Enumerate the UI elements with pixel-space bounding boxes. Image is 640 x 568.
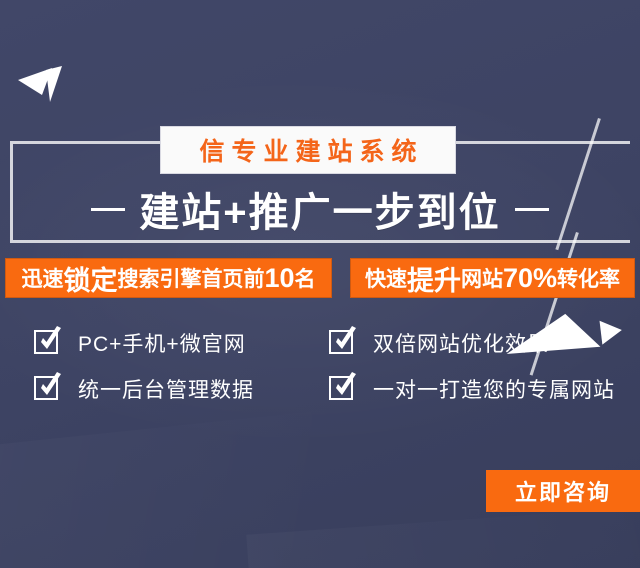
feature-item: 双倍网站优化效果 <box>329 328 634 358</box>
feature-item: 一对一打造您的专属网站 <box>329 374 634 404</box>
checkbox-checked-icon <box>329 376 355 402</box>
badge-text: 信专业建站系统 <box>192 132 423 168</box>
consult-now-button[interactable]: 立即咨询 <box>486 470 640 512</box>
feature-label: 一对一打造您的专属网站 <box>373 374 615 404</box>
headline-text: 建站+推广一步到位 <box>139 180 500 238</box>
headline-rule-right <box>515 208 549 211</box>
strip-part-emphasis: 提升 <box>407 259 461 298</box>
strip-part-emphasis: 锁定 <box>63 259 117 298</box>
feature-row: 统一后台管理数据 一对一打造您的专属网站 <box>34 374 634 404</box>
strip-part: 名 <box>295 263 316 293</box>
strip-conversion-rate: 快速 提升 网站 70% 转化率 <box>350 258 635 298</box>
strip-part: 网站 <box>461 263 503 293</box>
feature-label: 双倍网站优化效果 <box>373 328 549 358</box>
paper-plane-icon-left <box>16 62 76 110</box>
strip-part-emphasis: 10 <box>264 263 294 294</box>
consult-now-label: 立即咨询 <box>515 475 611 507</box>
feature-item: 统一后台管理数据 <box>34 374 329 404</box>
strip-part: 搜索引擎首页前 <box>117 263 264 293</box>
feature-list: PC+手机+微官网 双倍网站优化效果 <box>34 328 634 420</box>
checkbox-checked-icon <box>34 330 60 356</box>
checkbox-checked-icon <box>329 330 355 356</box>
strip-part-emphasis: 70% <box>503 263 557 294</box>
checkbox-checked-icon <box>34 376 60 402</box>
headline: 建站+推广一步到位 <box>0 178 640 240</box>
headline-rule-left <box>91 208 125 211</box>
feature-row: PC+手机+微官网 双倍网站优化效果 <box>34 328 634 358</box>
feature-item: PC+手机+微官网 <box>34 328 329 358</box>
badge: 信专业建站系统 <box>160 126 456 174</box>
strip-part: 快速 <box>365 263 407 293</box>
strip-part: 迅速 <box>21 263 63 293</box>
feature-label: 统一后台管理数据 <box>78 374 254 404</box>
strip-part: 转化率 <box>557 263 620 293</box>
feature-label: PC+手机+微官网 <box>78 328 246 358</box>
strip-search-ranking: 迅速 锁定 搜索引擎首页前 10 名 <box>5 258 332 298</box>
promo-banner: 信专业建站系统 建站+推广一步到位 迅速 锁定 搜索引擎首页前 10 名 快速 … <box>0 0 640 568</box>
